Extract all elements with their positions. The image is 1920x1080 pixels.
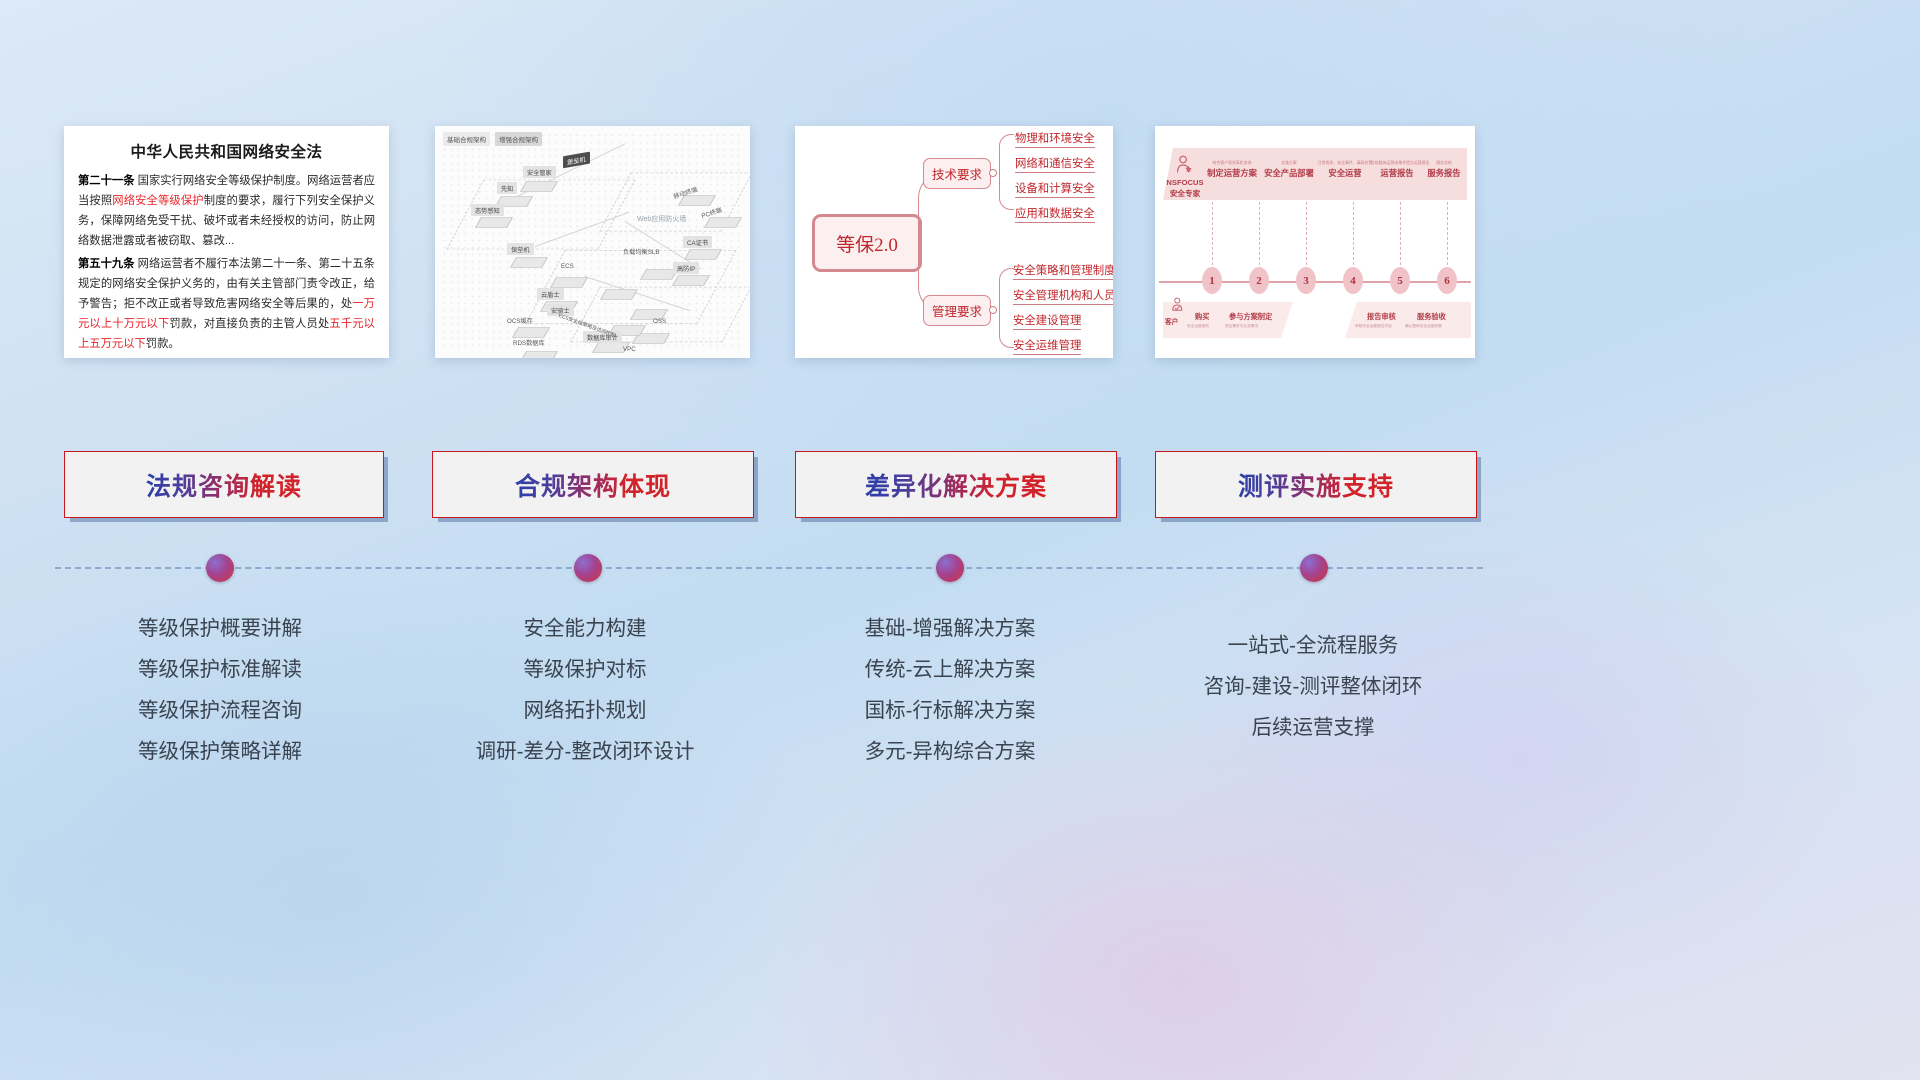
timeline-top-sub-2: 实施方案: [1261, 160, 1317, 165]
law-title: 中华人民共和国网络安全法: [78, 140, 375, 162]
architecture-canvas: 基础合规架构 增强合规架构: [435, 126, 750, 358]
article-21-label: 第二十一条: [78, 175, 135, 187]
mindmap-leaf-physical-env: 物理和环境安全: [1015, 130, 1095, 148]
timeline-node-4: 4: [1343, 267, 1363, 294]
list-item: 传统-云上解决方案: [770, 649, 1130, 690]
mindmap-bracket-management: [999, 268, 1014, 348]
timeline-top-main-5: 服务报告: [1419, 167, 1469, 179]
mindmap-root: 等保2.0: [812, 214, 922, 272]
timeline-stem-6: [1447, 202, 1448, 270]
mindmap-leaf-app-data: 应用和数据安全: [1015, 205, 1095, 223]
timeline-stem-5: [1400, 202, 1401, 270]
title-label-3: 差异化解决方案: [865, 467, 1047, 503]
timeline-stem-2: [1259, 202, 1260, 270]
architecture-tabs: 基础合规架构 增强合规架构: [443, 132, 542, 146]
label-xianzhi: 先知: [497, 182, 517, 194]
timeline-canvas: NSFOCUS 安全专家 结合客户现状高阶咨询 制定运营方案 实施方案 安全产品…: [1155, 126, 1475, 358]
title-label-2: 合规架构体现: [515, 467, 671, 503]
timeline-bottom-band-right: [1345, 302, 1471, 338]
timeline-top-main-1: 制定运营方案: [1203, 167, 1261, 179]
title-box-assessment-support[interactable]: 测评实施支持: [1155, 451, 1477, 518]
timeline-node-2: 2: [1249, 267, 1269, 294]
customer-role-label: 客户: [1165, 316, 1178, 326]
list-item: 安全能力构建: [405, 608, 765, 649]
timeline-bottom-sub-1: 安全运营服务: [1187, 324, 1209, 329]
list-item: 调研-差分-整改闭环设计: [405, 731, 765, 772]
feature-list-2: 安全能力构建 等级保护对标 网络拓扑规划 调研-差分-整改闭环设计: [405, 608, 765, 772]
law-document: 中华人民共和国网络安全法 第二十一条 国家实行网络安全等级保护制度。网络运营者应…: [64, 126, 389, 358]
node-icon-guard: [523, 178, 553, 197]
title-box-regulation-consulting[interactable]: 法规咨询解读: [64, 451, 384, 518]
timeline-bottom-main-6: 服务验收: [1417, 312, 1446, 322]
mindmap-dot-management: [989, 306, 997, 314]
article-21-highlight: 网络安全等级保护: [112, 195, 203, 207]
slide-canvas: 中华人民共和国网络安全法 第二十一条 国家实行网络安全等级保护制度。网络运营者应…: [0, 0, 1920, 1080]
card-mindmap: 等保2.0 技术要求 物理和环境安全 网络和通信安全 设备和计算安全 应用和数据…: [795, 126, 1113, 358]
label-oss: OSS: [653, 318, 666, 325]
card-architecture-diagram: 基础合规架构 增强合规架构: [435, 126, 750, 358]
timeline-top-step-2: 实施方案 安全产品部署: [1261, 160, 1317, 179]
expert-brand: NSFOCUS: [1165, 178, 1205, 187]
timeline-bottom-main-5: 报告审核: [1367, 312, 1396, 322]
timeline-node-6: 6: [1437, 267, 1457, 294]
node-icon-situation: [478, 214, 508, 233]
title-box-differentiated-solution[interactable]: 差异化解决方案: [795, 451, 1117, 518]
mindmap-branch-technical: 技术要求: [923, 158, 991, 189]
mindmap-leaf-ops-mgmt: 安全运维管理: [1013, 337, 1081, 355]
mindmap-canvas: 等保2.0 技术要求 物理和环境安全 网络和通信安全 设备和计算安全 应用和数据…: [795, 126, 1113, 358]
timeline-stem-1: [1212, 202, 1213, 270]
label-rds-db: RDS数据库: [513, 338, 545, 347]
timeline-top-sub-5: 服务总结: [1419, 160, 1469, 165]
node-icon-highdefense: [675, 272, 705, 291]
label-security-butler: 安全管家: [523, 166, 556, 178]
article-59-text-b: 罚款，对直接负责的主管人员处: [169, 318, 329, 330]
card-law-text: 中华人民共和国网络安全法 第二十一条 国家实行网络安全等级保护制度。网络运营者应…: [64, 126, 389, 358]
label-ca-cert: CA证书: [683, 236, 712, 248]
label-bastion: 保垒机: [507, 243, 534, 255]
title-label-4: 测评实施支持: [1238, 467, 1394, 503]
list-item: 后续运营支撑: [1133, 707, 1493, 748]
timeline-node-1: 1: [1202, 267, 1222, 294]
title-label-1: 法规咨询解读: [146, 467, 302, 503]
timeline-bottom-sub-5: 审核安全运营报告内容: [1355, 324, 1392, 329]
label-ecs: ECS: [561, 263, 574, 270]
label-slb: 负载均衡SLB: [623, 247, 659, 256]
feature-list-3: 基础-增强解决方案 传统-云上解决方案 国标-行标解决方案 多元-异构综合方案: [770, 608, 1130, 772]
timeline-top-step-1: 结合客户现状高阶咨询 制定运营方案: [1203, 160, 1261, 179]
feature-list-4: 一站式-全流程服务 咨询-建设-测评整体闭环 后续运营支撑: [1133, 625, 1493, 748]
timeline-top-main-4: 运营报告: [1371, 167, 1423, 179]
node-icon-bastion: [513, 254, 543, 273]
list-item: 网络拓扑规划: [405, 690, 765, 731]
mindmap-leaf-construction-mgmt: 安全建设管理: [1013, 312, 1081, 330]
timeline-node-5: 5: [1390, 267, 1410, 294]
timeline-bottom-main-1: 购买: [1195, 312, 1209, 322]
list-item: 等级保护对标: [405, 649, 765, 690]
timeline-node-3: 3: [1296, 267, 1316, 294]
process-dot-1[interactable]: [206, 554, 234, 582]
timeline-bottom-sub-2: 提出需求与业务情况: [1225, 324, 1258, 329]
timeline-top-sub-1: 结合客户现状高阶咨询: [1203, 160, 1261, 165]
label-cloud-shield: 云盾士: [537, 288, 564, 300]
timeline-stem-4: [1353, 202, 1354, 270]
law-article-59: 第五十九条 网络运营者不履行本法第二十一条、第二十五条规定的网络安全保护义务的，…: [78, 254, 375, 354]
node-icon-slb: [643, 266, 673, 285]
label-vpc: VPC: [623, 346, 636, 353]
timeline-bottom-main-2: 参与方案制定: [1229, 312, 1272, 322]
timeline-top-step-5: 服务总结 服务报告: [1419, 160, 1469, 179]
mindmap-leaf-device-compute: 设备和计算安全: [1015, 180, 1095, 198]
list-item: 等级保护标准解读: [40, 649, 400, 690]
process-dot-2[interactable]: [574, 554, 602, 582]
timeline-top-sub-3: 日常巡检、安全事件、漏洞处置: [1317, 160, 1373, 165]
list-item: 等级保护概要讲解: [40, 608, 400, 649]
expert-role: 安全专家: [1165, 188, 1205, 199]
list-item: 基础-增强解决方案: [770, 608, 1130, 649]
timeline-bottom-sub-6: 确认整体安全运营效果: [1405, 324, 1442, 329]
process-dot-4[interactable]: [1300, 554, 1328, 582]
label-waf: Web应用防火墙: [637, 214, 686, 224]
timeline-top-main-3: 安全运营: [1317, 167, 1373, 179]
mindmap-dot-technical: [989, 169, 997, 177]
label-situation-awareness: 态势感知: [471, 204, 504, 216]
node-icon-cluster-a: [603, 286, 633, 305]
process-axis: [55, 567, 1483, 569]
list-item: 一站式-全流程服务: [1133, 625, 1493, 666]
article-59-label: 第五十九条: [78, 258, 135, 270]
label-high-defense-ip: 高防IP: [673, 262, 699, 274]
list-item: 咨询-建设-测评整体闭环: [1133, 666, 1493, 707]
timeline-top-step-4: 总结整体运营成果并提交运营报告 运营报告: [1371, 160, 1423, 179]
process-dot-3[interactable]: [936, 554, 964, 582]
title-box-compliance-architecture[interactable]: 合规架构体现: [432, 451, 754, 518]
law-article-21: 第二十一条 国家实行网络安全等级保护制度。网络运营者应当按照网络安全等级保护制度…: [78, 171, 375, 251]
list-item: 国标-行标解决方案: [770, 690, 1130, 731]
timeline-top-main-2: 安全产品部署: [1261, 167, 1317, 179]
mindmap-branch-management: 管理要求: [923, 295, 991, 326]
card-service-timeline: NSFOCUS 安全专家 结合客户现状高阶咨询 制定运营方案 实施方案 安全产品…: [1155, 126, 1475, 358]
mindmap-leaf-network-comm: 网络和通信安全: [1015, 155, 1095, 173]
mindmap-leaf-policy-system: 安全策略和管理制度: [1013, 262, 1113, 280]
list-item: 等级保护策略详解: [40, 731, 400, 772]
list-item: 等级保护流程咨询: [40, 690, 400, 731]
timeline-stem-3: [1306, 202, 1307, 270]
tab-enhanced-architecture[interactable]: 增强合规架构: [495, 132, 542, 146]
tab-basic-architecture[interactable]: 基础合规架构: [443, 132, 490, 146]
label-ocs-cache: OCS缓存: [507, 316, 533, 325]
article-59-text-c: 罚款。: [146, 338, 180, 350]
mindmap-bracket-technical: [999, 134, 1014, 210]
mindmap-leaf-org-personnel: 安全管理机构和人员: [1013, 287, 1113, 305]
feature-list-1: 等级保护概要讲解 等级保护标准解读 等级保护流程咨询 等级保护策略详解: [40, 608, 400, 772]
timeline-top-step-3: 日常巡检、安全事件、漏洞处置 安全运营: [1317, 160, 1373, 179]
list-item: 多元-异构综合方案: [770, 731, 1130, 772]
node-icon-rds: [523, 348, 553, 358]
timeline-top-sub-4: 总结整体运营成果并提交运营报告: [1371, 160, 1423, 165]
